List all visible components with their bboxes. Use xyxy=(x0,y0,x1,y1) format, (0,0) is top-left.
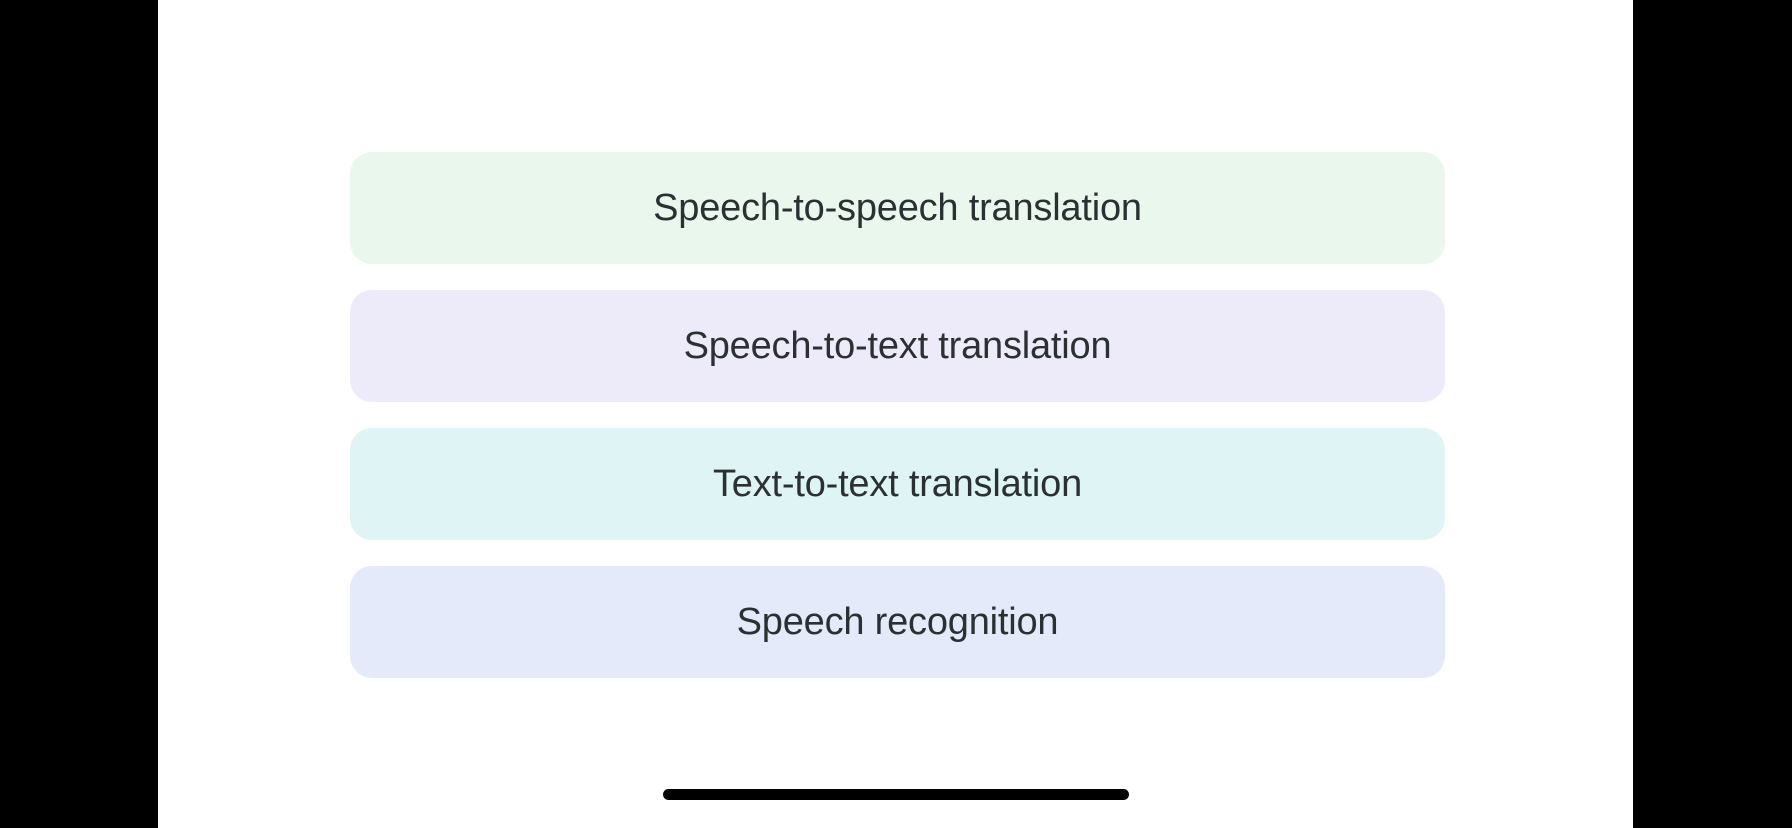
options-list: Speech-to-speech translation Speech-to-t… xyxy=(350,152,1445,678)
option-card-label: Text-to-text translation xyxy=(713,463,1082,506)
option-speech-recognition[interactable]: Speech recognition xyxy=(350,566,1445,678)
screen-frame: Speech-to-speech translation Speech-to-t… xyxy=(0,0,1792,828)
option-card-label: Speech-to-speech translation xyxy=(653,187,1142,230)
option-speech-to-speech-translation[interactable]: Speech-to-speech translation xyxy=(350,152,1445,264)
option-speech-to-text-translation[interactable]: Speech-to-text translation xyxy=(350,290,1445,402)
app-viewport: Speech-to-speech translation Speech-to-t… xyxy=(158,0,1633,828)
option-card-label: Speech recognition xyxy=(737,601,1059,644)
letterbox-bar-left xyxy=(0,0,158,828)
option-text-to-text-translation[interactable]: Text-to-text translation xyxy=(350,428,1445,540)
home-indicator[interactable] xyxy=(663,789,1129,800)
letterbox-bar-right xyxy=(1633,0,1792,828)
home-indicator-area xyxy=(158,768,1633,828)
option-card-label: Speech-to-text translation xyxy=(684,325,1112,368)
